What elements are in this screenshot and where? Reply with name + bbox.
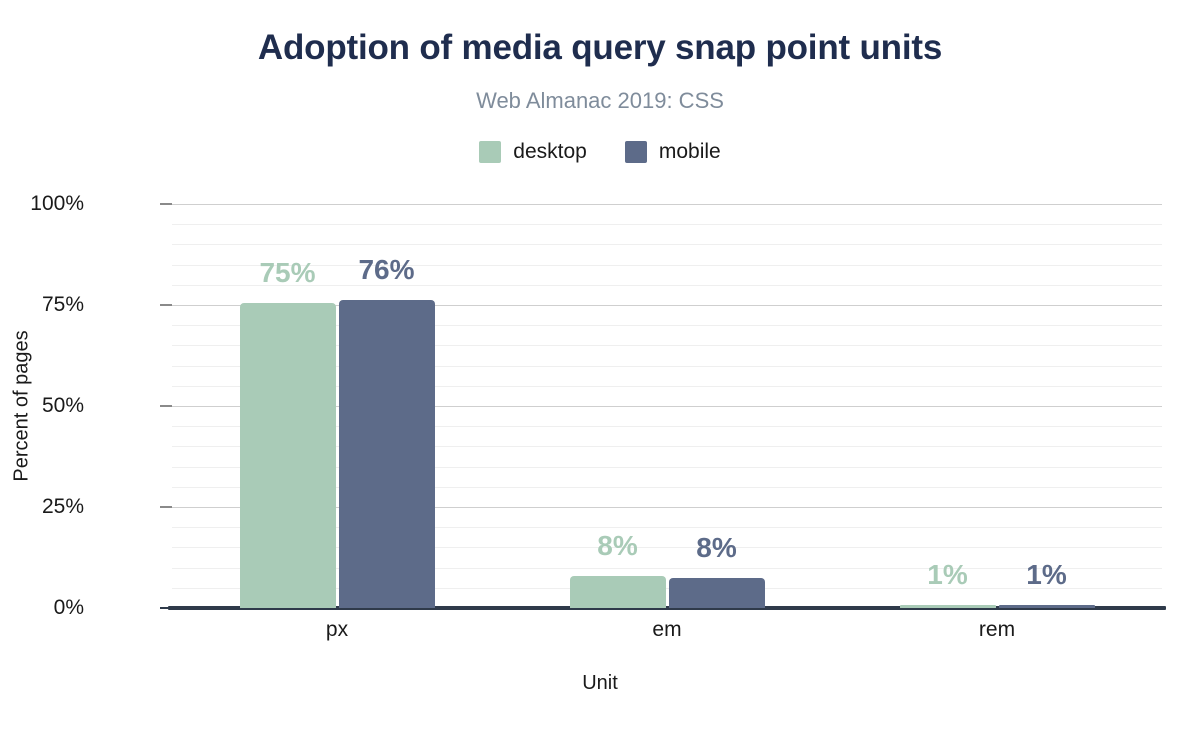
legend-label-mobile: mobile <box>659 140 721 164</box>
gridline-minor <box>172 244 1162 245</box>
bar-mobile-em[interactable] <box>669 578 765 608</box>
chart-legend: desktopmobile <box>0 140 1200 164</box>
y-tick-mark <box>160 607 172 609</box>
y-tick-label: 50% <box>4 394 84 418</box>
legend-item-mobile[interactable]: mobile <box>625 140 721 164</box>
y-tick-label: 75% <box>4 293 84 317</box>
bar-value-label-mobile-rem: 1% <box>967 559 1127 591</box>
bar-desktop-em[interactable] <box>570 576 666 608</box>
y-tick-mark <box>160 405 172 407</box>
y-tick-mark <box>160 506 172 508</box>
x-axis-title: Unit <box>0 672 1200 695</box>
bar-value-label-mobile-px: 76% <box>307 254 467 286</box>
gridline-minor <box>172 224 1162 225</box>
bar-value-label-mobile-em: 8% <box>637 532 797 564</box>
x-tick-label-rem: rem <box>877 618 1117 642</box>
bar-desktop-px[interactable] <box>240 303 336 608</box>
y-tick-label: 25% <box>4 495 84 519</box>
chart-title: Adoption of media query snap point units <box>0 28 1200 68</box>
bar-desktop-rem[interactable] <box>900 605 996 608</box>
x-tick-label-em: em <box>547 618 787 642</box>
legend-item-desktop[interactable]: desktop <box>479 140 587 164</box>
y-tick-label: 100% <box>4 192 84 216</box>
y-tick-mark <box>160 203 172 205</box>
bar-mobile-px[interactable] <box>339 300 435 608</box>
legend-swatch-desktop <box>479 141 501 163</box>
gridline-major <box>172 204 1162 205</box>
bar-mobile-rem[interactable] <box>999 605 1095 608</box>
chart-container: Adoption of media query snap point units… <box>0 0 1200 742</box>
y-tick-mark <box>160 304 172 306</box>
x-tick-label-px: px <box>217 618 457 642</box>
legend-label-desktop: desktop <box>513 140 587 164</box>
y-tick-label: 0% <box>4 596 84 620</box>
legend-swatch-mobile <box>625 141 647 163</box>
chart-subtitle: Web Almanac 2019: CSS <box>0 88 1200 114</box>
